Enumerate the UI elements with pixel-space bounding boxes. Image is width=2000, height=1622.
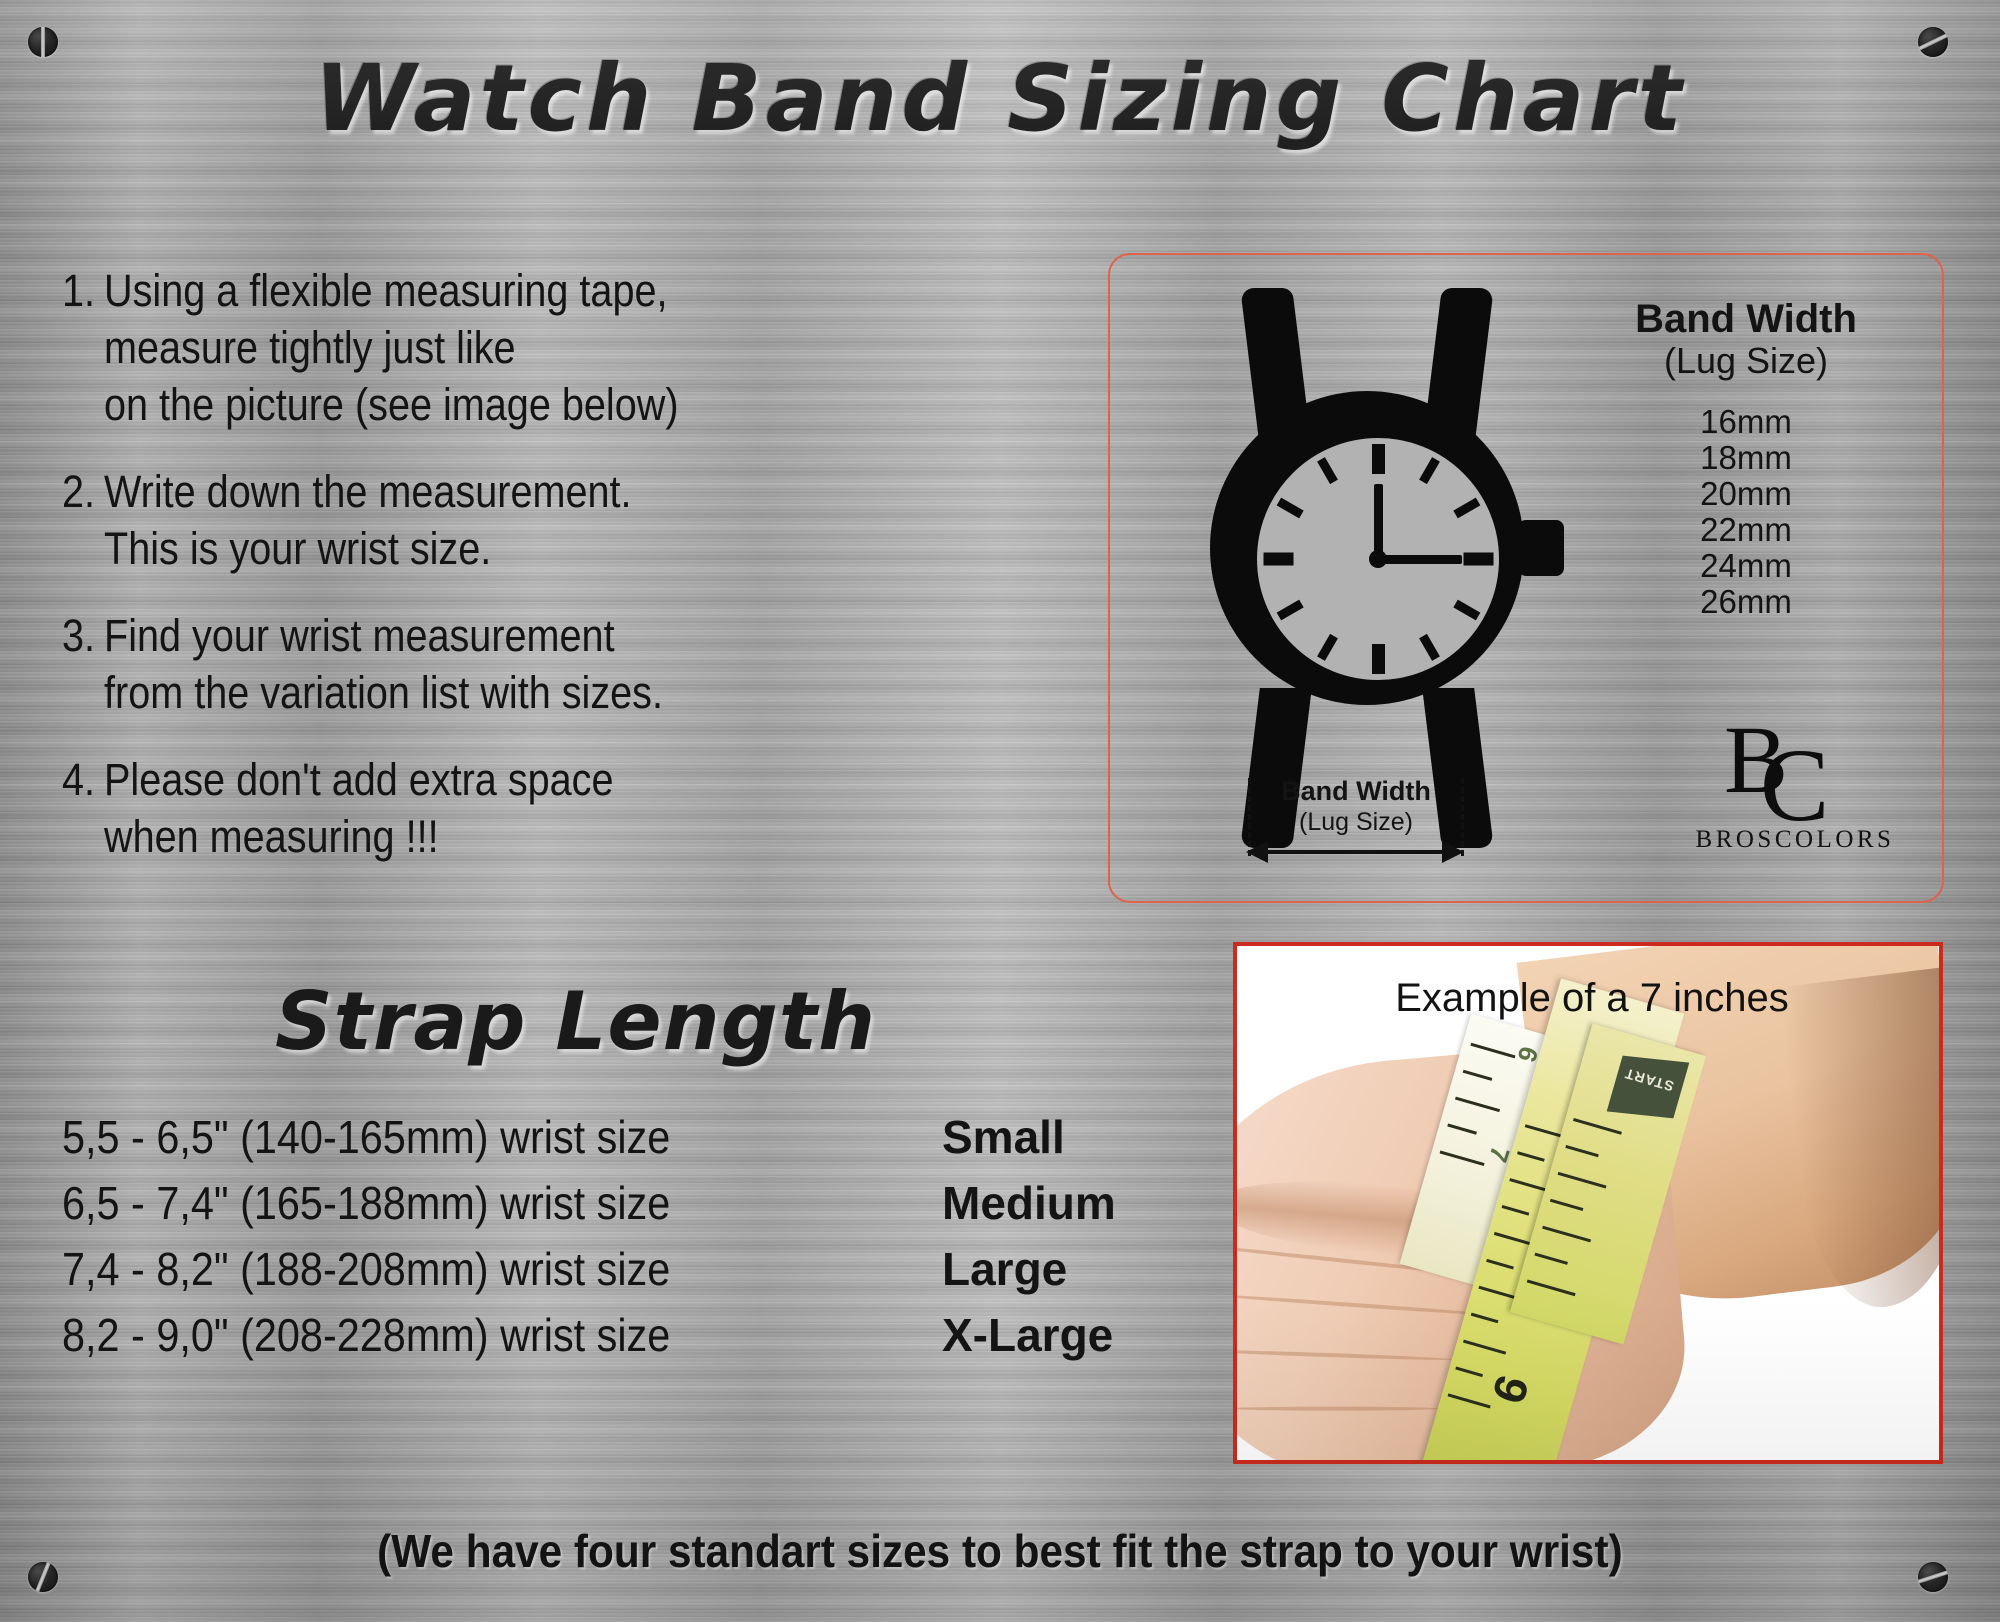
instruction-text: Using a flexible measuring tape, measure… <box>104 262 757 433</box>
screw-slot <box>41 27 45 57</box>
wrist-size-range-text: 6,5 - 7,4" (165-188mm) wrist size <box>62 1176 670 1230</box>
dial-tick <box>1464 553 1494 566</box>
table-row: 8,2 - 9,0" (208-228mm) wrist size X-Larg… <box>62 1308 1242 1374</box>
screw-bottom-left-icon <box>28 1562 58 1592</box>
tape-number: 9 <box>1481 1369 1540 1410</box>
wrist-size-range: 7,4 - 8,2" (188-208mm) wrist size <box>62 1242 942 1296</box>
list-item: 22mm <box>1588 512 1904 548</box>
instruction-text: Please don't add extra space when measur… <box>104 751 683 865</box>
dial-tick <box>1277 498 1304 519</box>
bc-monogram-icon: B C <box>1690 712 1900 822</box>
instruction-line: on the picture (see image below) <box>104 376 679 433</box>
size-label: Small <box>942 1110 1065 1164</box>
instruction-line: Using a flexible measuring tape, <box>104 262 679 319</box>
instruction-number: 4. <box>62 751 99 808</box>
instruction-number: 2. <box>62 463 99 520</box>
instruction-line: Find your wrist measurement <box>104 607 663 664</box>
brand-logo: B C BROSCOLORS <box>1690 712 1900 854</box>
instructions-list: 1. Using a flexible measuring tape, meas… <box>62 262 882 895</box>
screw-top-right-icon <box>1918 27 1948 57</box>
wrist-size-range: 8,2 - 9,0" (208-228mm) wrist size <box>62 1308 942 1362</box>
page-title: Watch Band Sizing Chart <box>0 45 2000 152</box>
dimension-arrow-line <box>1252 850 1458 854</box>
instruction-number: 1. <box>62 262 99 319</box>
dial-tick <box>1419 457 1440 484</box>
band-width-legend-title: Band Width <box>1588 297 1904 342</box>
palm-crease <box>1233 1293 1496 1317</box>
strap-size-table: 5,5 - 6,5" (140-165mm) wrist size Small … <box>62 1110 1242 1374</box>
dial-tick <box>1277 600 1304 621</box>
dial-tick <box>1372 644 1385 674</box>
photo-content: 6 7 8 9 <box>1237 946 1939 1460</box>
instruction-line: Write down the measurement. <box>104 463 632 520</box>
wrist-size-range-text: 8,2 - 9,0" (208-228mm) wrist size <box>62 1308 670 1362</box>
instruction-number: 3. <box>62 607 99 664</box>
wrist-size-range: 5,5 - 6,5" (140-165mm) wrist size <box>62 1110 942 1164</box>
band-width-dimension-callout: Band Width (Lug Size) <box>1248 778 1464 870</box>
strap-length-heading: Strap Length <box>275 975 876 1068</box>
table-row: 5,5 - 6,5" (140-165mm) wrist size Small <box>62 1110 1242 1176</box>
band-width-values-list: 16mm 18mm 20mm 22mm 24mm 26mm <box>1588 404 1904 620</box>
watch-hand-pivot <box>1369 550 1387 568</box>
dial-tick <box>1453 498 1480 519</box>
arrow-left-icon <box>1246 841 1268 863</box>
palm-crease <box>1233 1407 1439 1411</box>
size-label: Large <box>942 1242 1067 1296</box>
screw-top-left-icon <box>28 27 58 57</box>
screw-bottom-right-icon <box>1918 1562 1948 1592</box>
band-width-legend: Band Width (Lug Size) 16mm 18mm 20mm 22m… <box>1588 297 1904 620</box>
list-item: 4. Please don't add extra space when mea… <box>62 751 882 865</box>
list-item: 26mm <box>1588 584 1904 620</box>
watch-dial <box>1257 438 1499 680</box>
arrow-right-icon <box>1442 841 1464 863</box>
logo-letter-c: C <box>1760 734 1829 838</box>
dial-tick <box>1317 634 1338 661</box>
metal-plate-background: Watch Band Sizing Chart 1. Using a flexi… <box>0 0 2000 1622</box>
callout-subtitle: (Lug Size) <box>1242 808 1470 837</box>
photo-caption: Example of a 7 inches <box>1237 976 1943 1021</box>
wrist-measurement-photo: 6 7 8 9 <box>1233 942 1943 1464</box>
screw-slot <box>36 1562 51 1591</box>
instruction-line: This is your wrist size. <box>104 520 632 577</box>
table-row: 7,4 - 8,2" (188-208mm) wrist size Large <box>62 1242 1242 1308</box>
list-item: 3. Find your wrist measurement from the … <box>62 607 882 721</box>
instruction-line: when measuring !!! <box>104 808 614 865</box>
watch-case <box>1210 391 1524 705</box>
table-row: 6,5 - 7,4" (165-188mm) wrist size Medium <box>62 1176 1242 1242</box>
instruction-text: Find your wrist measurement from the var… <box>104 607 739 721</box>
instruction-line: measure tightly just like <box>104 319 679 376</box>
watch-diagram-icon <box>1196 288 1556 848</box>
list-item: 18mm <box>1588 440 1904 476</box>
dial-tick <box>1419 634 1440 661</box>
size-label: X-Large <box>942 1308 1113 1362</box>
callout-title: Band Width <box>1242 776 1470 807</box>
wrist-size-range-text: 5,5 - 6,5" (140-165mm) wrist size <box>62 1110 670 1164</box>
dial-tick <box>1264 553 1294 566</box>
watch-crown <box>1518 520 1564 576</box>
screw-slot <box>1919 34 1948 51</box>
screw-slot <box>1918 1570 1948 1583</box>
list-item: 16mm <box>1588 404 1904 440</box>
wrist-size-range-text: 7,4 - 8,2" (188-208mm) wrist size <box>62 1242 670 1296</box>
footer-note-text: (We have four standart sizes to best fit… <box>377 1524 1623 1578</box>
instruction-line: from the variation list with sizes. <box>104 664 663 721</box>
instruction-text: Write down the measurement. This is your… <box>104 463 703 577</box>
size-label: Medium <box>942 1176 1116 1230</box>
palm-crease <box>1233 1349 1452 1362</box>
list-item: 20mm <box>1588 476 1904 512</box>
wrist-size-range: 6,5 - 7,4" (165-188mm) wrist size <box>62 1176 942 1230</box>
instruction-line: Please don't add extra space <box>104 751 614 808</box>
watch-bezel <box>1246 427 1510 691</box>
list-item: 1. Using a flexible measuring tape, meas… <box>62 262 882 433</box>
dial-tick <box>1317 457 1338 484</box>
watch-minute-hand <box>1378 555 1462 564</box>
list-item: 2. Write down the measurement. This is y… <box>62 463 882 577</box>
band-width-legend-subtitle: (Lug Size) <box>1588 340 1904 382</box>
footer-note: (We have four standart sizes to best fit… <box>0 1524 2000 1578</box>
list-item: 24mm <box>1588 548 1904 584</box>
dial-tick <box>1372 444 1385 474</box>
dial-tick <box>1453 600 1480 621</box>
